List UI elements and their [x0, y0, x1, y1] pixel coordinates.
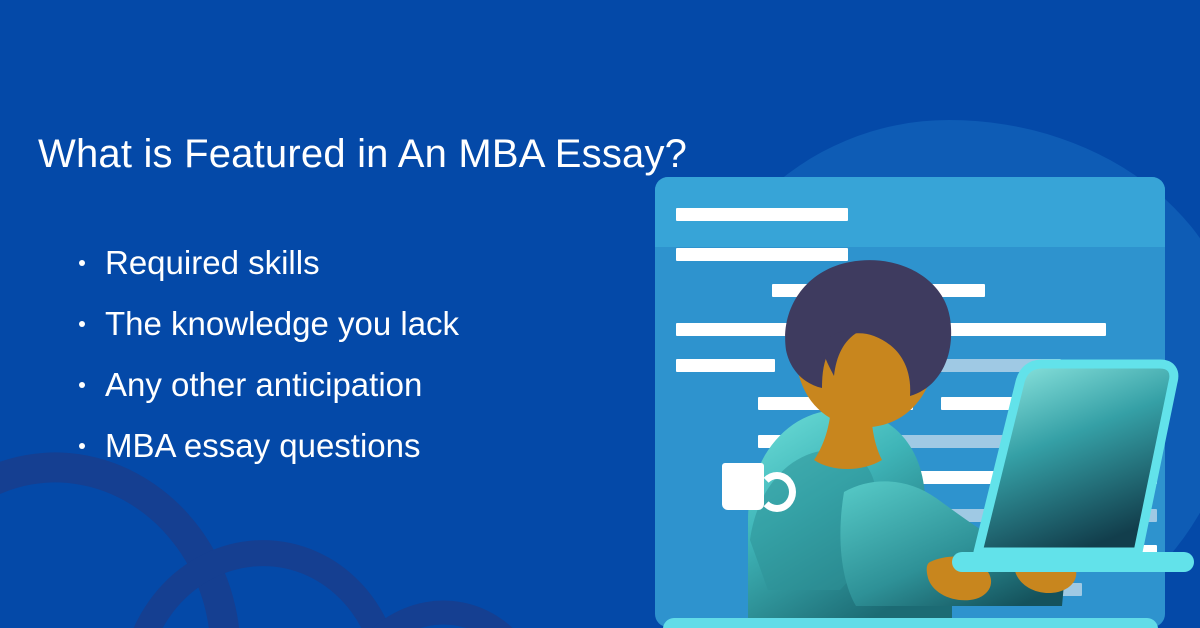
- list-item: Any other anticipation: [66, 354, 459, 415]
- feature-bullet-list: Required skillsThe knowledge you lackAny…: [66, 232, 459, 476]
- bullet-dot-icon: [79, 260, 85, 266]
- bullet-dot-icon: [79, 443, 85, 449]
- decorative-arc-middle: [105, 526, 417, 628]
- desk-icon: [663, 618, 1158, 628]
- coffee-mug-handle-icon: [758, 472, 796, 512]
- list-item-label: Required skills: [105, 244, 320, 281]
- list-item-label: The knowledge you lack: [105, 305, 459, 342]
- list-item-label: MBA essay questions: [105, 427, 421, 464]
- bullet-dot-icon: [79, 382, 85, 388]
- decorative-arc-inner: [304, 577, 573, 628]
- list-item: MBA essay questions: [66, 415, 459, 476]
- promo-card: What is Featured in An MBA Essay? Requir…: [0, 0, 1200, 628]
- list-item-label: Any other anticipation: [105, 366, 422, 403]
- list-item: The knowledge you lack: [66, 293, 459, 354]
- page-title: What is Featured in An MBA Essay?: [38, 132, 687, 177]
- laptop-icon: [978, 364, 1174, 552]
- laptop-base: [952, 552, 1194, 572]
- list-item: Required skills: [66, 232, 459, 293]
- hero-illustration: [600, 120, 1200, 628]
- bullet-dot-icon: [79, 321, 85, 327]
- person-working-icon: [600, 120, 1200, 628]
